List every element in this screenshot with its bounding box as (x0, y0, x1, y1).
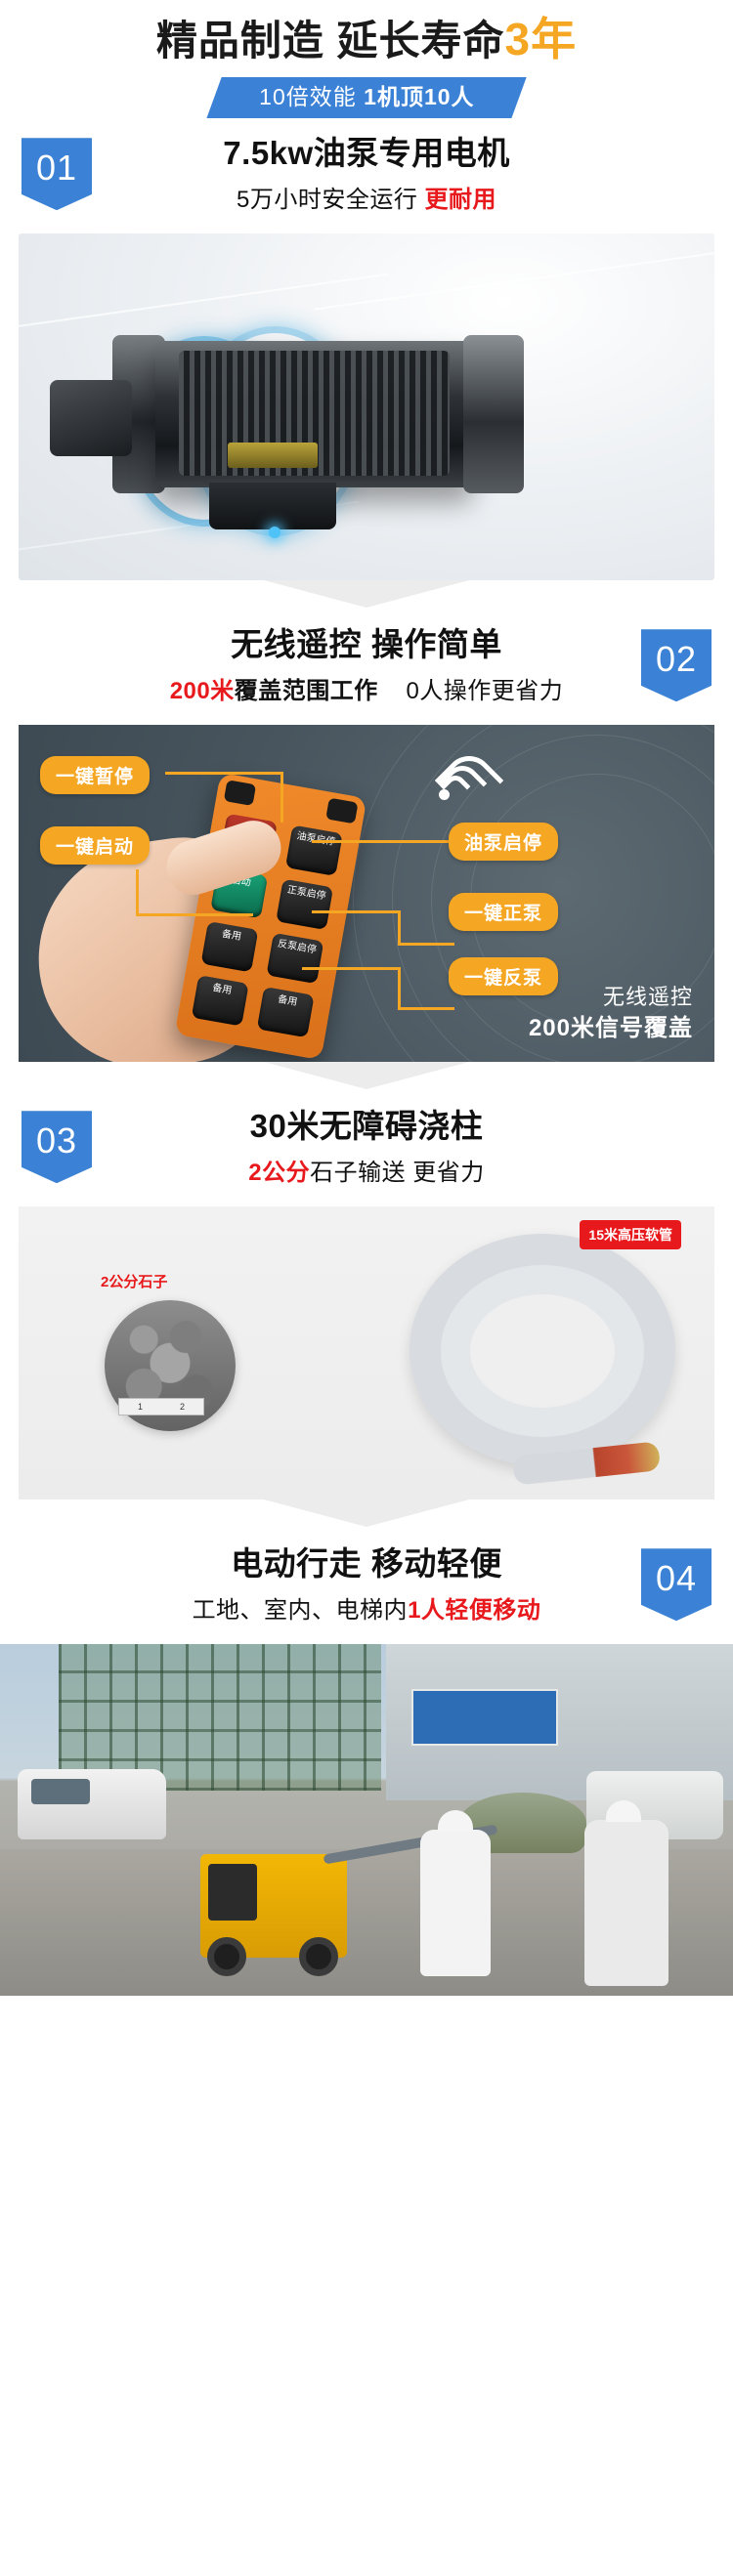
worker-center (420, 1830, 491, 1976)
hose-length-label: 15米高压软管 (580, 1220, 681, 1249)
gravel-label: 2公分石子 (101, 1271, 167, 1291)
section-divider-notch-1 (0, 580, 733, 610)
callout-leader-line (136, 913, 253, 916)
section-03-photo: 1 2 2公分石子 15米高压软管 (0, 1206, 733, 1499)
header-ribbon: 10倍效能 1机顶10人 (206, 77, 527, 118)
section-02-head: 02 无线遥控 操作简单 200米覆盖范围工作 0人操作更省力 (0, 610, 733, 725)
remote-button-forward[interactable]: 正泵启停 (276, 879, 333, 930)
remote-button-pump-toggle[interactable]: 油泵启停 (285, 825, 343, 876)
machine-wheel (207, 1937, 246, 1976)
section-01-title-block: 7.5kw油泵专用电机 5万小时安全运行 更耐用 (0, 132, 733, 214)
section-04-title: 电动行走 移动轻便 (0, 1542, 733, 1586)
section-04-subtitle-highlight: 1人轻便移动 (408, 1597, 540, 1624)
section-03-title: 30米无障碍浇柱 (0, 1105, 733, 1149)
remote-button-spare-2[interactable]: 备用 (192, 975, 249, 1026)
callout-forward: 一键正泵 (449, 893, 558, 931)
section-04: 04 电动行走 移动轻便 工地、室内、电梯内1人轻便移动 (0, 1529, 733, 1996)
parked-van-left (18, 1769, 166, 1839)
hose-and-gravel-image: 1 2 2公分石子 15米高压软管 (19, 1206, 714, 1499)
remote-control-image: 停 油泵启停 启动 正泵启停 备用 反泵启停 备用 备用 一键 (19, 725, 714, 1062)
oil-pump-unit (50, 380, 132, 456)
machine-wheel (299, 1937, 338, 1976)
section-04-head: 04 电动行走 移动轻便 工地、室内、电梯内1人轻便移动 (0, 1529, 733, 1644)
callout-leader-line (312, 840, 456, 843)
section-03-head: 03 30米无障碍浇柱 2公分石子输送 更省力 (0, 1091, 733, 1206)
section-03-subtitle-highlight: 2公分 (248, 1160, 310, 1186)
indicator-led-icon (269, 527, 280, 538)
section-04-subtitle: 工地、室内、电梯内1人轻便移动 (0, 1590, 733, 1625)
ruler-scale: 1 2 (118, 1398, 204, 1415)
remote-button-reverse[interactable]: 反泵启停 (266, 933, 323, 984)
site-signboard (411, 1689, 558, 1746)
section-01: 01 7.5kw油泵专用电机 5万小时安全运行 更耐用 (0, 118, 733, 580)
callout-leader-line (280, 772, 283, 823)
section-02-image-caption: 无线遥控 200米信号覆盖 (529, 982, 693, 1047)
callout-leader-line (398, 910, 401, 946)
section-01-photo (0, 233, 733, 580)
section-02-subtitle-highlight: 200米 (170, 678, 235, 704)
section-02-title-block: 无线遥控 操作简单 200米覆盖范围工作 0人操作更省力 (0, 623, 733, 705)
section-divider-notch-2 (0, 1062, 733, 1091)
caption-line-2: 200米信号覆盖 (529, 1015, 693, 1041)
callout-leader-line (302, 967, 400, 970)
callout-start: 一键启动 (40, 826, 150, 865)
section-02-subtitle-plain2: 0人操作更省力 (406, 678, 563, 704)
section-divider-notch-3 (0, 1499, 733, 1529)
worker-right (584, 1820, 668, 1986)
page-title-main: 精品制造 延长寿命 (156, 18, 505, 63)
motor-mount-foot (209, 483, 336, 529)
motor-fan-cover (463, 335, 524, 493)
page-title: 精品制造 延长寿命3年 (0, 14, 733, 65)
caption-line-1: 无线遥控 (529, 982, 693, 1013)
page-title-highlight: 3年 (505, 14, 578, 64)
ribbon-text-right: 1机顶10人 (364, 85, 474, 109)
section-02-subtitle-plain: 覆盖范围工作 (235, 678, 378, 704)
section-04-subtitle-plain: 工地、室内、电梯内 (193, 1597, 409, 1624)
section-03-subtitle-plain: 石子输送 更省力 (310, 1160, 485, 1186)
section-02-photo: 停 油泵启停 启动 正泵启停 备用 反泵启停 备用 备用 一键 (0, 725, 733, 1062)
wireless-remote-device: 停 油泵启停 启动 正泵启停 备用 反泵启停 备用 备用 (175, 773, 367, 1060)
section-01-title: 7.5kw油泵专用电机 (0, 132, 733, 176)
callout-leader-line (165, 772, 282, 775)
section-02: 02 无线遥控 操作简单 200米覆盖范围工作 0人操作更省力 (0, 610, 733, 1062)
header-ribbon-wrap: 10倍效能 1机顶10人 (0, 77, 733, 118)
callout-leader-line (136, 869, 139, 916)
section-01-head: 01 7.5kw油泵专用电机 5万小时安全运行 更耐用 (0, 118, 733, 233)
callout-pump-toggle: 油泵启停 (449, 823, 558, 861)
ribbon-text-left: 10倍效能 (259, 85, 357, 109)
callout-leader-line (398, 1007, 454, 1010)
section-01-subtitle-highlight: 更耐用 (425, 187, 497, 213)
ruler-tick-2: 2 (180, 1402, 185, 1412)
section-01-subtitle: 5万小时安全运行 更耐用 (0, 180, 733, 214)
section-01-subtitle-plain: 5万小时安全运行 (237, 187, 417, 213)
section-03: 03 30米无障碍浇柱 2公分石子输送 更省力 1 2 2公分石子 15米高压软… (0, 1091, 733, 1499)
motor-nameplate (228, 443, 318, 468)
remote-button-spare-1[interactable]: 备用 (201, 921, 259, 972)
construction-site-image (0, 1644, 733, 1996)
section-03-title-block: 30米无障碍浇柱 2公分石子输送 更省力 (0, 1105, 733, 1187)
section-04-photo (0, 1644, 733, 1996)
section-03-subtitle: 2公分石子输送 更省力 (0, 1153, 733, 1187)
remote-button-spare-3[interactable]: 备用 (257, 987, 315, 1037)
motor-image (19, 233, 714, 580)
high-pressure-hose-coil-inner (441, 1265, 644, 1437)
section-02-title: 无线遥控 操作简单 (0, 623, 733, 667)
callout-leader-line (398, 967, 401, 1010)
callout-pause: 一键暂停 (40, 756, 150, 794)
page-header: 精品制造 延长寿命3年 10倍效能 1机顶10人 (0, 0, 733, 118)
callout-leader-line (398, 943, 454, 946)
section-04-title-block: 电动行走 移动轻便 工地、室内、电梯内1人轻便移动 (0, 1542, 733, 1625)
callout-leader-line (312, 910, 400, 913)
ruler-tick-1: 1 (138, 1402, 143, 1412)
section-02-subtitle: 200米覆盖范围工作 0人操作更省力 (0, 671, 733, 705)
